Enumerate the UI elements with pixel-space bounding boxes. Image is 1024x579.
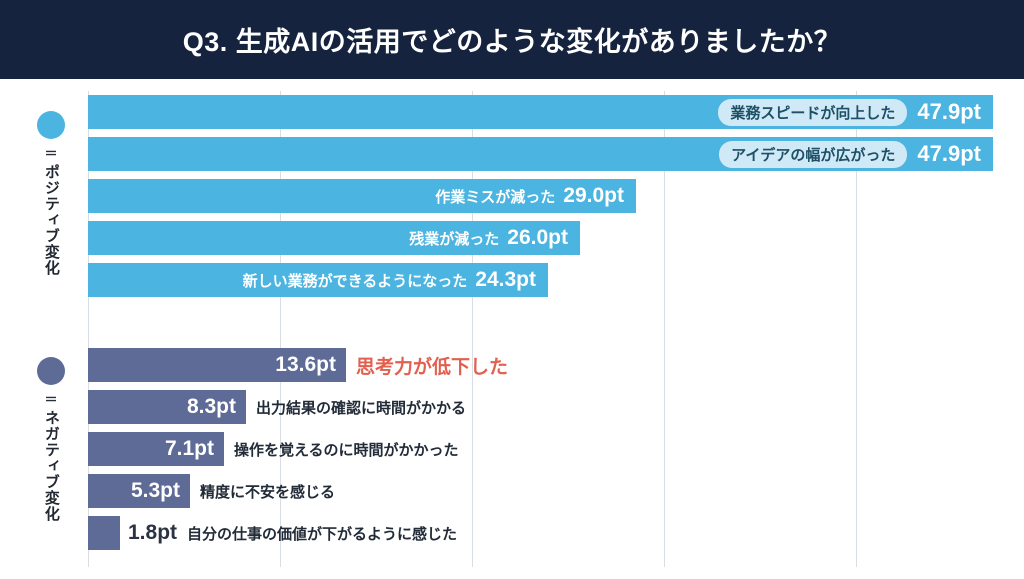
bar-label: 作業ミスが減った xyxy=(435,186,555,207)
bar-value: 24.3pt xyxy=(475,268,536,292)
bar-row: 7.1pt 操作を覚えるのに時間がかかった xyxy=(88,432,459,466)
bar-value: 5.3pt xyxy=(131,479,180,503)
bar-label: 出力結果の確認に時間がかかる xyxy=(256,397,466,418)
bar-row: 新しい業務ができるようになった 24.3pt xyxy=(88,263,548,297)
bar-positive-5: 新しい業務ができるようになった 24.3pt xyxy=(88,263,548,297)
bar-negative-2: 8.3pt xyxy=(88,390,246,424)
group-negative: ＝ ネガティブ変化 xyxy=(28,357,74,522)
bar-label: 新しい業務ができるようになった xyxy=(243,270,468,291)
group-positive: ＝ ポジティブ変化 xyxy=(28,111,74,276)
bar-value: 8.3pt xyxy=(187,395,236,419)
bar-positive-3: 作業ミスが減った 29.0pt xyxy=(88,179,636,213)
chart-area: ＝ ポジティブ変化 業務スピードが向上した 47.9pt アイデアの幅が広がった… xyxy=(0,79,1024,579)
bar-label: 思考力が低下した xyxy=(356,352,508,379)
bar-value: 47.9pt xyxy=(917,141,981,167)
bar-negative-3: 7.1pt xyxy=(88,432,224,466)
bar-row: 1.8pt 自分の仕事の価値が下がるように感じた xyxy=(88,516,457,550)
bar-value: 7.1pt xyxy=(165,437,214,461)
group-positive-eq: ＝ xyxy=(28,143,74,162)
bar-row: アイデアの幅が広がった 47.9pt xyxy=(88,137,993,171)
bar-label: 精度に不安を感じる xyxy=(200,481,335,502)
bar-label: 操作を覚えるのに時間がかかった xyxy=(234,439,459,460)
page-title: Q3. 生成AIの活用でどのような変化がありましたか？ xyxy=(183,20,842,59)
group-positive-label: ポジティブ変化 xyxy=(43,164,59,276)
group-negative-eq: ＝ xyxy=(28,389,74,408)
bar-row: 8.3pt 出力結果の確認に時間がかかる xyxy=(88,390,466,424)
bar-row: 残業が減った 26.0pt xyxy=(88,221,580,255)
bar-positive-4: 残業が減った 26.0pt xyxy=(88,221,580,255)
bar-value: 1.8pt xyxy=(128,521,177,545)
legend-dot-negative-icon xyxy=(37,357,65,385)
bar-value: 26.0pt xyxy=(507,226,568,250)
bar-value: 47.9pt xyxy=(917,99,981,125)
page-header: Q3. 生成AIの活用でどのような変化がありましたか？ xyxy=(0,0,1024,79)
bar-label: 残業が減った xyxy=(409,228,499,249)
bar-negative-4: 5.3pt xyxy=(88,474,190,508)
bar-negative-1: 13.6pt xyxy=(88,348,346,382)
bar-negative-5 xyxy=(88,516,120,550)
group-negative-label: ネガティブ変化 xyxy=(43,410,59,522)
bar-row: 5.3pt 精度に不安を感じる xyxy=(88,474,335,508)
bar-positive-2: アイデアの幅が広がった 47.9pt xyxy=(88,137,993,171)
legend-dot-positive-icon xyxy=(37,111,65,139)
bar-label: 自分の仕事の価値が下がるように感じた xyxy=(187,523,457,544)
bar-positive-1: 業務スピードが向上した 47.9pt xyxy=(88,95,993,129)
bar-value: 29.0pt xyxy=(563,184,624,208)
bar-row: 作業ミスが減った 29.0pt xyxy=(88,179,636,213)
bar-label: アイデアの幅が広がった xyxy=(719,141,907,168)
bar-row: 業務スピードが向上した 47.9pt xyxy=(88,95,993,129)
bar-row: 13.6pt 思考力が低下した xyxy=(88,348,508,382)
bar-label: 業務スピードが向上した xyxy=(718,99,907,126)
bar-value: 13.6pt xyxy=(275,353,336,377)
